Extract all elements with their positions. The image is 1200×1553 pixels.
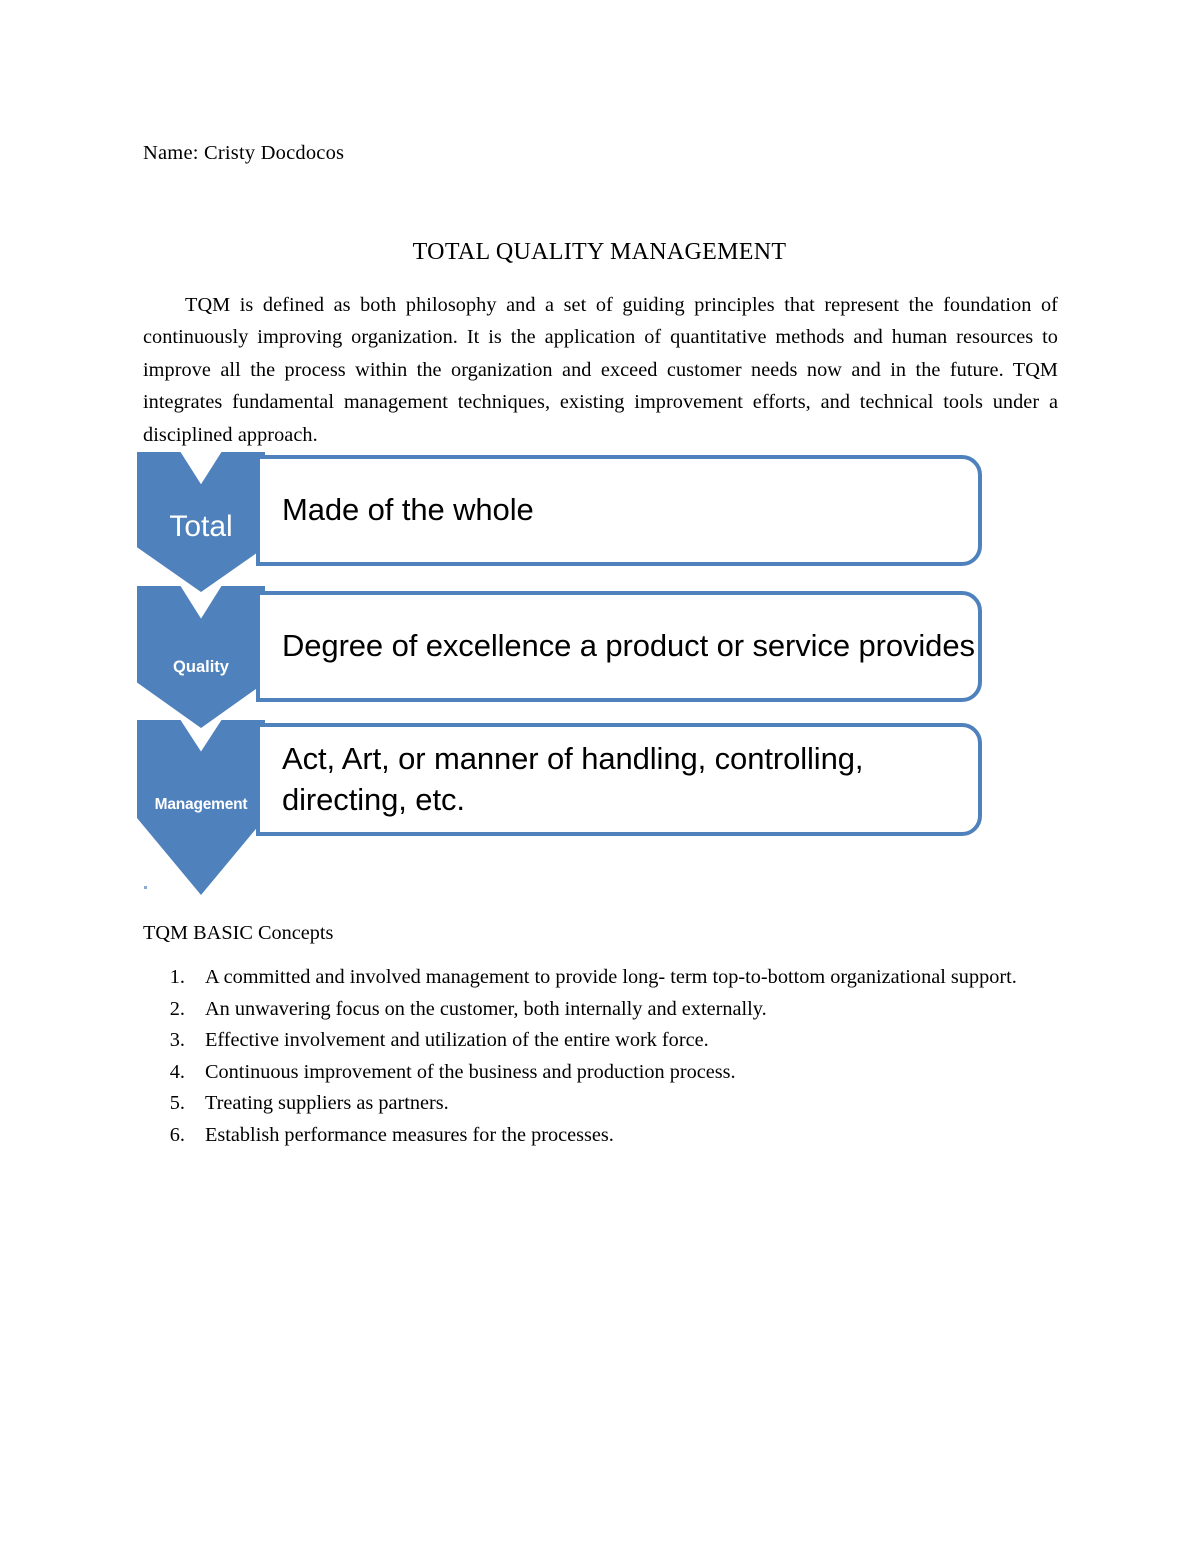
callout-text-total: Made of the whole	[260, 490, 534, 531]
callout-box-management: Act, Art, or manner of handling, control…	[256, 723, 982, 836]
list-item-number: 3.	[143, 1025, 205, 1057]
list-item: 6. Establish performance measures for th…	[143, 1120, 1058, 1152]
chevron-label-quality: Quality	[137, 658, 265, 676]
tqm-basic-concepts-list: 1. A committed and involved management t…	[143, 962, 1058, 1151]
list-item-text: Continuous improvement of the business a…	[205, 1057, 1035, 1089]
diagram-row-management: Management Act, Art, or manner of handli…	[137, 720, 982, 897]
diagram-row-quality: Quality Degree of excellence a product o…	[137, 586, 982, 726]
list-item-number: 4.	[143, 1057, 205, 1089]
list-item: 2. An unwavering focus on the customer, …	[143, 994, 1058, 1026]
page-title: TOTAL QUALITY MANAGEMENT	[143, 237, 1056, 267]
list-item-text: Establish performance measures for the p…	[205, 1120, 1035, 1152]
list-item-number: 6.	[143, 1120, 205, 1152]
document-page: Name: Cristy Docdocos TOTAL QUALITY MANA…	[0, 0, 1200, 1553]
list-item: 5. Treating suppliers as partners.	[143, 1088, 1058, 1120]
list-item-number: 2.	[143, 994, 205, 1026]
stray-period-artifact	[144, 886, 147, 889]
callout-box-total: Made of the whole	[256, 455, 982, 566]
list-item-text: Effective involvement and utilization of…	[205, 1025, 1035, 1057]
intro-paragraph: TQM is defined as both philosophy and a …	[143, 289, 1058, 451]
diagram-row-total: Total Made of the whole	[137, 452, 982, 592]
chevron-label-total: Total	[137, 510, 265, 543]
tqm-chevron-diagram: Total Made of the whole Quality Degree o…	[137, 452, 982, 897]
list-item-text: Treating suppliers as partners.	[205, 1088, 1035, 1120]
list-item: 3. Effective involvement and utilization…	[143, 1025, 1058, 1057]
list-item-number: 5.	[143, 1088, 205, 1120]
callout-box-quality: Degree of excellence a product or servic…	[256, 591, 982, 702]
callout-text-management: Act, Art, or manner of handling, control…	[260, 739, 978, 821]
list-item: 4. Continuous improvement of the busines…	[143, 1057, 1058, 1089]
chevron-label-management: Management	[137, 796, 265, 813]
list-item-text: A committed and involved management to p…	[205, 962, 1035, 994]
list-item-number: 1.	[143, 962, 205, 994]
chevron-arrow-icon	[137, 586, 265, 728]
callout-text-quality: Degree of excellence a product or servic…	[260, 626, 975, 667]
section-heading-tqm-basic-concepts: TQM BASIC Concepts	[143, 919, 333, 947]
list-item: 1. A committed and involved management t…	[143, 962, 1058, 994]
list-item-text: An unwavering focus on the customer, bot…	[205, 994, 1035, 1026]
student-name-line: Name: Cristy Docdocos	[143, 139, 344, 167]
